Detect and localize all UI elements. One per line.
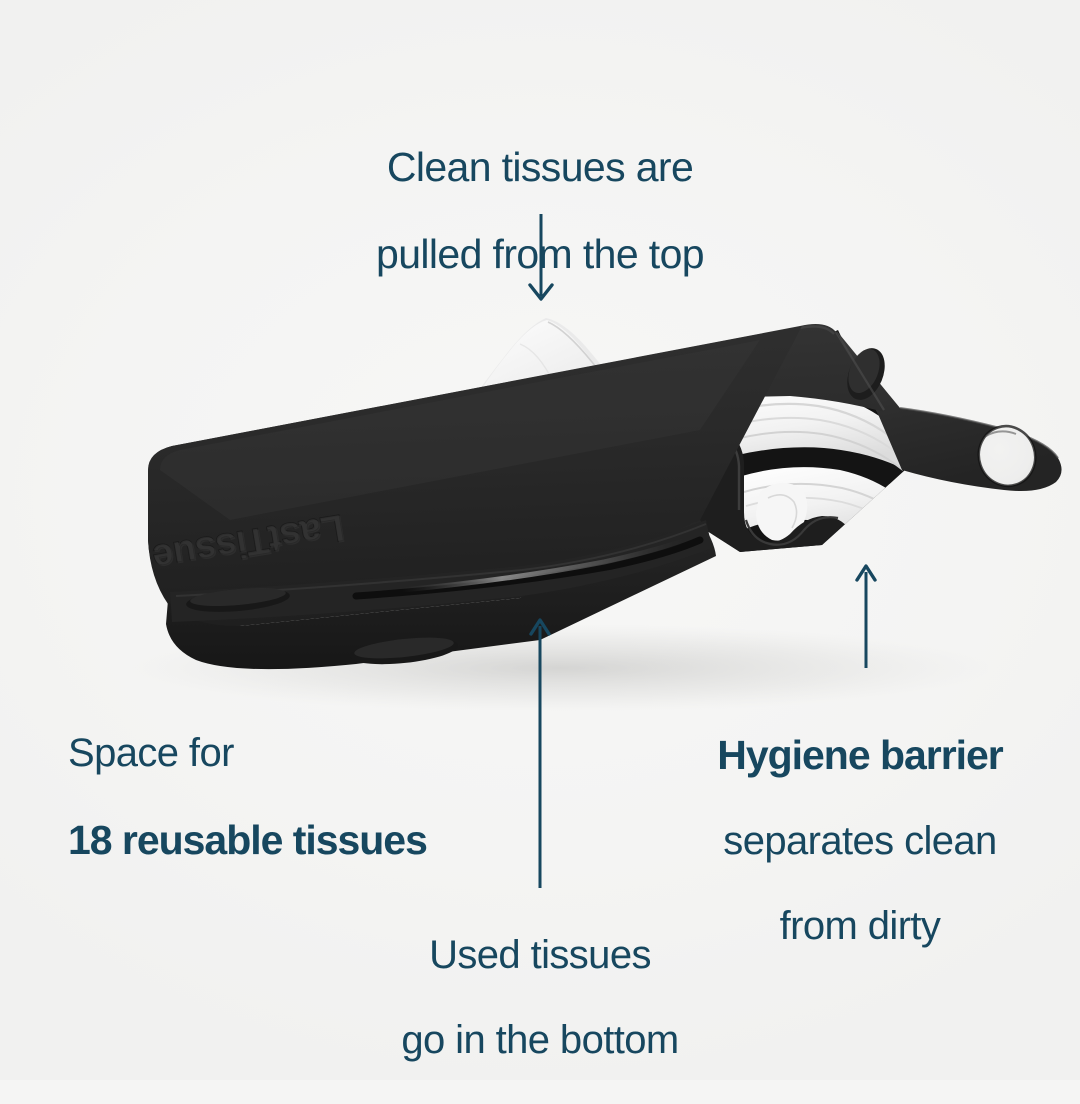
- main-body: [148, 324, 1062, 669]
- caption-bottom-line2: go in the bottom: [330, 1019, 750, 1061]
- caption-left-line2: 18 reusable tissues: [68, 819, 498, 862]
- caption-top-line2: pulled from the top: [0, 233, 1080, 276]
- caption-clean-tissues: Clean tissues are pulled from the top: [0, 103, 1080, 320]
- caption-top-line1: Clean tissues are: [0, 146, 1080, 189]
- caption-used-tissues: Used tissues go in the bottom: [330, 892, 750, 1104]
- caption-space-for-tissues: Space for 18 reusable tissues: [68, 690, 498, 905]
- infographic-canvas: LastTissue LastTissue Clean tissues ar: [0, 0, 1080, 1080]
- caption-left-line1: Space for: [68, 732, 498, 774]
- caption-right-line1: Hygiene barrier: [660, 734, 1060, 777]
- caption-bottom-line1: Used tissues: [330, 934, 750, 976]
- caption-right-line2: separates clean: [660, 820, 1060, 862]
